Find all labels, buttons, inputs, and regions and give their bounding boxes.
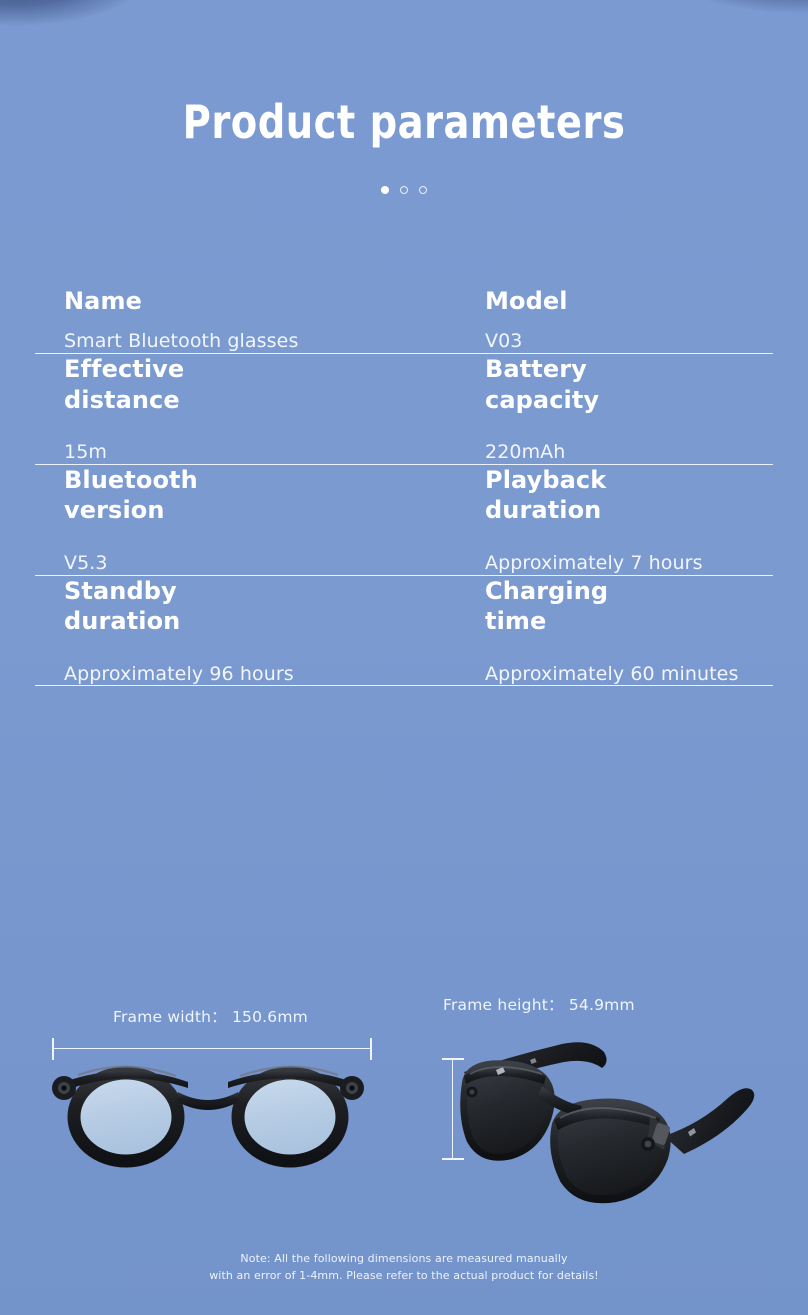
page-title: Product parameters: [28, 95, 779, 149]
carousel-dots: [0, 186, 808, 194]
spec-cell-standby-duration: Standby duration Approximately 96 hours: [35, 576, 485, 686]
spec-value: V03: [485, 330, 773, 353]
carousel-dot-3[interactable]: [419, 186, 427, 194]
spec-value: Approximately 7 hours: [485, 552, 773, 575]
spec-label: Name: [64, 286, 485, 316]
spec-cell-charging-time: Charging time Approximately 60 minutes: [485, 576, 773, 686]
footer-note-line-1: Note: All the following dimensions are m…: [0, 1250, 808, 1267]
glasses-angled-view-image: [452, 1032, 762, 1207]
spec-value: 220mAh: [485, 441, 773, 464]
spec-cell-bluetooth-version: Bluetooth version V5.3: [35, 465, 485, 575]
table-row: Effective distance 15m Battery capacity …: [35, 354, 773, 465]
frame-height-label: Frame height： 54.9mm: [443, 993, 635, 1015]
spec-label: Playback duration: [485, 465, 773, 526]
spec-cell-model: Model V03: [485, 286, 773, 353]
table-row: Bluetooth version V5.3 Playback duration…: [35, 465, 773, 576]
table-row: Standby duration Approximately 96 hours …: [35, 576, 773, 687]
spec-table: Name Smart Bluetooth glasses Model V03 E…: [35, 282, 773, 686]
spec-value: Approximately 60 minutes: [485, 663, 773, 686]
spec-label: Charging time: [485, 576, 773, 637]
spec-cell-name: Name Smart Bluetooth glasses: [35, 286, 485, 353]
table-row: Name Smart Bluetooth glasses Model V03: [35, 282, 773, 354]
footer-note-line-2: with an error of 1-4mm. Please refer to …: [0, 1267, 808, 1284]
spec-cell-playback-duration: Playback duration Approximately 7 hours: [485, 465, 773, 575]
spec-cell-effective-distance: Effective distance 15m: [35, 354, 485, 464]
product-parameters-page: Product parameters Name Smart Bluetooth …: [0, 0, 808, 1315]
spec-label: Effective distance: [64, 354, 485, 415]
frame-width-label: Frame width： 150.6mm: [113, 1005, 308, 1027]
spec-label: Standby duration: [64, 576, 485, 637]
spec-label: Battery capacity: [485, 354, 773, 415]
carousel-dot-2[interactable]: [400, 186, 408, 194]
spec-value: V5.3: [64, 552, 485, 575]
spec-cell-battery-capacity: Battery capacity 220mAh: [485, 354, 773, 464]
spec-value: Approximately 96 hours: [64, 663, 485, 686]
spec-value: Smart Bluetooth glasses: [64, 330, 485, 353]
spec-label: Model: [485, 286, 773, 316]
glasses-front-view-image: [38, 1048, 378, 1178]
spec-label: Bluetooth version: [64, 465, 485, 526]
spec-value: 15m: [64, 441, 485, 464]
footer-note: Note: All the following dimensions are m…: [0, 1250, 808, 1284]
carousel-dot-1[interactable]: [381, 186, 389, 194]
